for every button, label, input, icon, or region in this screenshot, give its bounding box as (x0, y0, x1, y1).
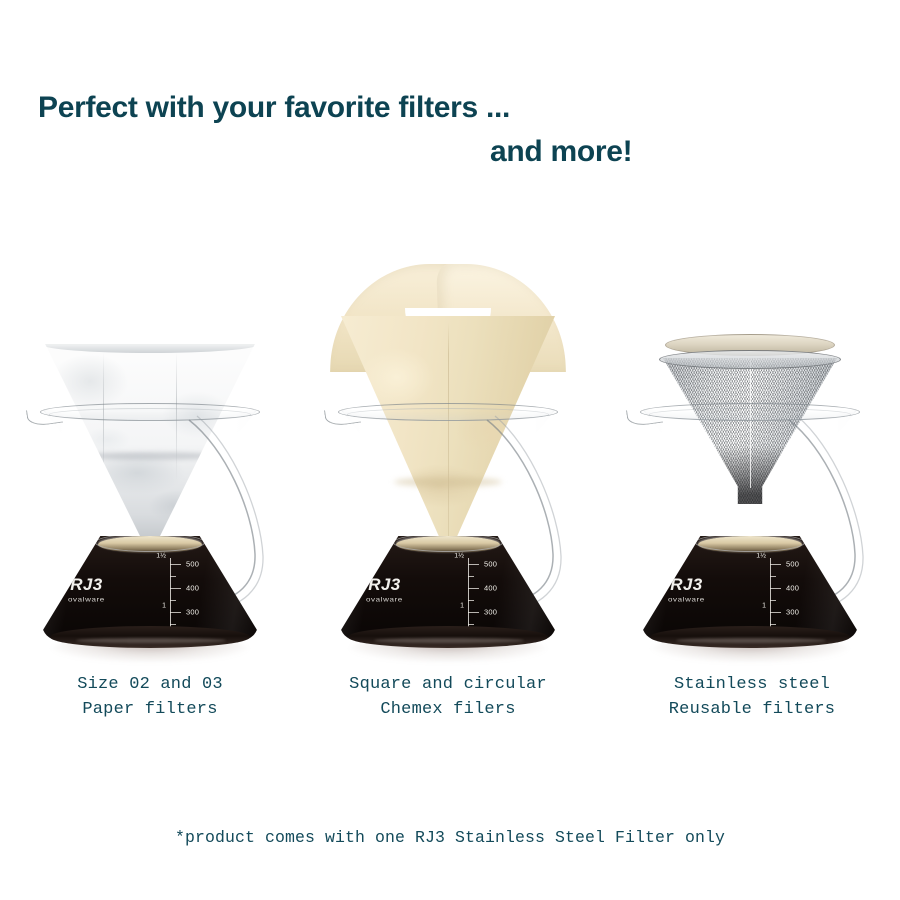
scale-tick (770, 576, 776, 577)
scale-tick (170, 564, 181, 565)
scale-tick (770, 600, 776, 601)
cup-label-one-and-half: 1½ (756, 553, 766, 560)
volume-label-500: 500 (484, 560, 497, 569)
glass-funnel (43, 410, 257, 540)
headline-line-2: and more! (38, 130, 862, 174)
carafe-foot (50, 626, 250, 648)
scale-tick (770, 564, 781, 565)
product-steel-filter: RJ3 ovalware 500 400 300 200ml 1½ (600, 232, 900, 664)
scale-tick (468, 600, 474, 601)
glass-funnel (341, 410, 555, 540)
caption-line-2: Reusable filters (602, 697, 900, 722)
volume-label-400: 400 (186, 584, 199, 593)
volume-label-400: 400 (786, 584, 799, 593)
cup-label-one-and-half: 1½ (156, 553, 166, 560)
rj3-carafe: RJ3 ovalware 500 400 300 200ml 1½ (340, 528, 556, 650)
carafe-foot (650, 626, 850, 648)
scale-tick (170, 624, 176, 625)
caption-steel-filter: Stainless steel Reusable filters (602, 672, 900, 722)
carafe-body: RJ3 ovalware 500 400 300 200ml 1½ (42, 536, 258, 640)
brand-mark: RJ3 ovalware (668, 576, 705, 604)
scale-tick (468, 624, 474, 625)
page-headline: Perfect with your favorite filters ... a… (0, 86, 900, 174)
glass-funnel (643, 410, 857, 540)
scale-tick (468, 588, 479, 589)
paper-filter-top-edge (42, 336, 258, 353)
footnote-disclaimer: *product comes with one RJ3 Stainless St… (0, 828, 900, 847)
product-paper-filter: RJ3 ovalware 500 400 300 200ml 1½ (0, 232, 300, 664)
brand-name-label: ovalware (68, 596, 105, 603)
caption-line-2: Paper filters (0, 697, 300, 722)
rj3-carafe: RJ3 ovalware 500 400 300 200ml 1½ (42, 528, 258, 650)
brand-mark: RJ3 ovalware (68, 576, 105, 604)
coffee-surface-rim (393, 533, 503, 552)
coffee-surface-rim (95, 533, 205, 552)
brand-mark: RJ3 ovalware (366, 576, 403, 604)
volume-label-500: 500 (786, 560, 799, 569)
brand-name-label: ovalware (366, 596, 403, 603)
carafe-foot (348, 626, 548, 648)
scale-tick (468, 612, 479, 613)
cup-label-one: 1 (460, 603, 464, 610)
headline-line-1: Perfect with your favorite filters ... (38, 86, 862, 130)
volume-label-500: 500 (186, 560, 199, 569)
caption-paper-filter: Size 02 and 03 Paper filters (0, 672, 300, 722)
scale-tick (170, 612, 181, 613)
caption-line-2: Chemex filers (298, 697, 598, 722)
scale-tick (468, 576, 474, 577)
volume-label-400: 400 (484, 584, 497, 593)
scale-tick (770, 612, 781, 613)
steel-filter-rim (659, 350, 841, 369)
caption-line-1: Size 02 and 03 (0, 672, 300, 697)
carafe-foot-highlight (374, 638, 524, 643)
coffee-surface-rim (695, 533, 805, 552)
caption-row: Size 02 and 03 Paper filters Square and … (0, 672, 900, 732)
brand-model-label: RJ3 (668, 576, 705, 593)
cup-label-one-and-half: 1½ (454, 553, 464, 560)
volume-label-300: 300 (484, 608, 497, 617)
carafe-body: RJ3 ovalware 500 400 300 200ml 1½ (340, 536, 556, 640)
volume-label-300: 300 (186, 608, 199, 617)
carafe-body: RJ3 ovalware 500 400 300 200ml 1½ (642, 536, 858, 640)
caption-line-1: Square and circular (298, 672, 598, 697)
brand-model-label: RJ3 (68, 576, 105, 593)
scale-tick (170, 576, 176, 577)
scale-tick (770, 588, 781, 589)
volume-label-300: 300 (786, 608, 799, 617)
cup-label-one: 1 (162, 603, 166, 610)
scale-tick (170, 588, 181, 589)
product-row: RJ3 ovalware 500 400 300 200ml 1½ (0, 232, 900, 664)
caption-chemex-filter: Square and circular Chemex filers (298, 672, 598, 722)
caption-line-1: Stainless steel (602, 672, 900, 697)
brand-model-label: RJ3 (366, 576, 403, 593)
scale-tick (170, 600, 176, 601)
scale-tick (468, 564, 479, 565)
carafe-foot-highlight (676, 638, 826, 643)
cup-label-one: 1 (762, 603, 766, 610)
rj3-carafe: RJ3 ovalware 500 400 300 200ml 1½ (642, 528, 858, 650)
product-chemex-filter: RJ3 ovalware 500 400 300 200ml 1½ (298, 232, 598, 664)
brand-name-label: ovalware (668, 596, 705, 603)
carafe-foot-highlight (76, 638, 226, 643)
scale-tick (770, 624, 776, 625)
